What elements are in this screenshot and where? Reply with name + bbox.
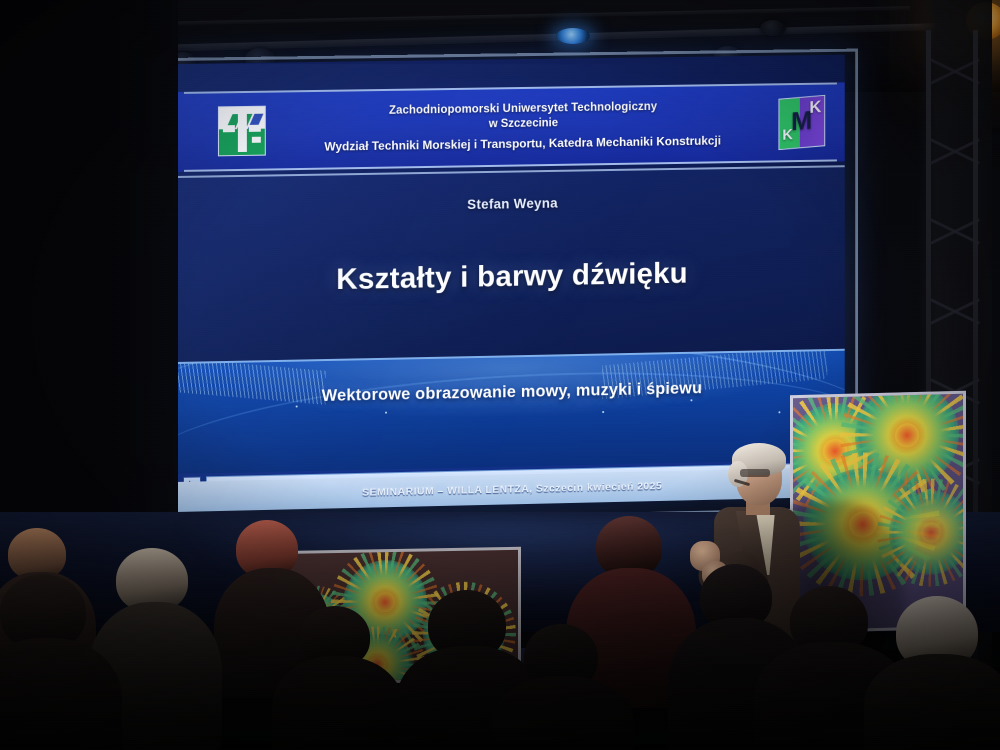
stage-lamp-blue: [556, 28, 590, 44]
presentation-photo-scene: Zachodniopomorski Uniwersytet Technologi…: [0, 0, 1000, 750]
faculty-name: Wydział Techniki Morskiej i Transportu, …: [272, 133, 773, 156]
slide-header-band: Zachodniopomorski Uniwersytet Technologi…: [176, 82, 845, 172]
speaker-glasses: [740, 469, 770, 477]
slide-body: Stefan Weyna Kształty i barwy dźwięku: [176, 165, 845, 364]
slide-header-text: Zachodniopomorski Uniwersytet Technologi…: [266, 98, 779, 155]
presenter-name: Stefan Weyna: [176, 191, 845, 217]
stage-left-wall: [0, 0, 178, 560]
lighting-truss-upper: [150, 6, 910, 26]
seminar-footer-text: SEMINARIUM – WILLA LENTZA, Szczecin kwie…: [362, 480, 662, 499]
kmk-logo: KMK: [778, 95, 825, 150]
stage-lamp-dark-4: [760, 20, 786, 36]
audience: [0, 520, 1000, 750]
zut-logo: [218, 106, 266, 157]
audience-shadow-veil: [0, 520, 1000, 750]
slide-title: Kształty i barwy dźwięku: [176, 254, 845, 300]
lighting-truss: [120, 23, 940, 53]
